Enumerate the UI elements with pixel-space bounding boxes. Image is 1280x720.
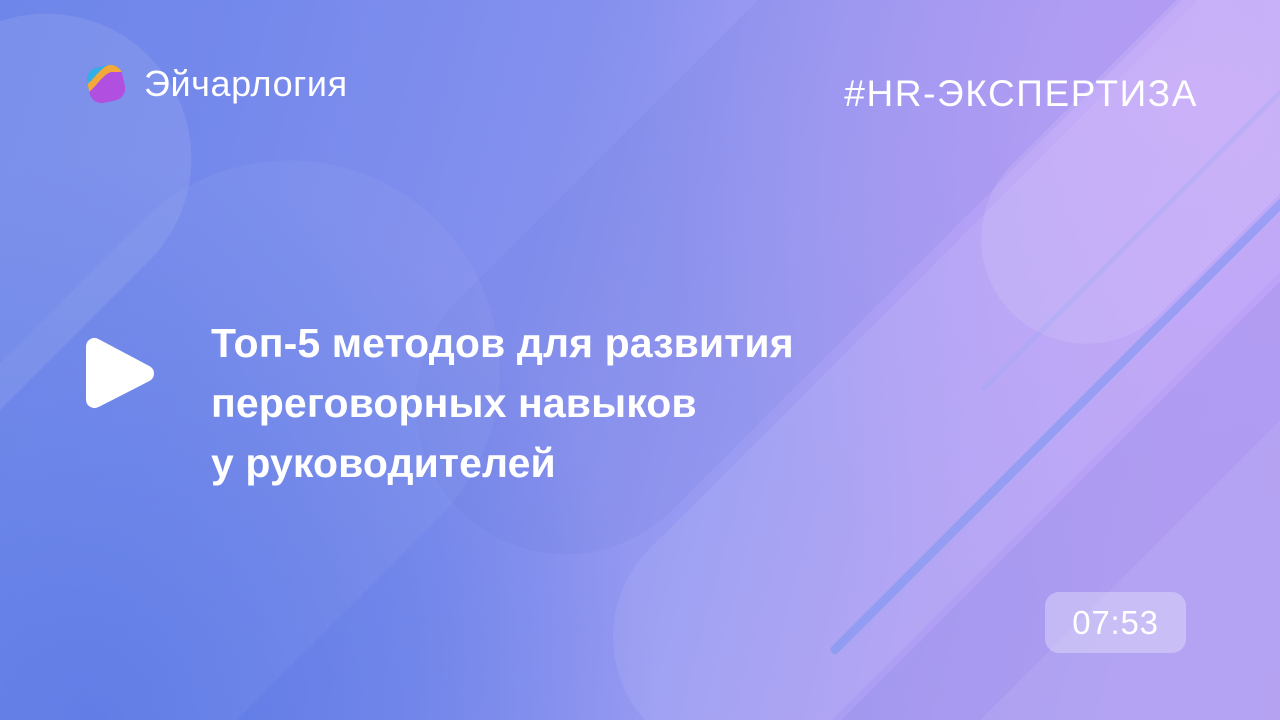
squircle-gradient-logo-icon (84, 62, 128, 106)
title-line-1: Топ-5 методов для развития (211, 313, 971, 373)
title-line-2: переговорных навыков (211, 373, 971, 433)
play-icon[interactable] (80, 336, 156, 410)
video-cover-slide: Эйчарлогия #HR-ЭКСПЕРТИЗА Топ-5 методов … (0, 0, 1280, 720)
hashtag-label: #HR-ЭКСПЕРТИЗА (844, 72, 1198, 116)
duration-badge: 07:53 (1045, 592, 1186, 653)
brand-logo[interactable]: Эйчарлогия (84, 62, 348, 106)
title-line-3: у руководителей (211, 433, 971, 493)
page-title: Топ-5 методов для развития переговорных … (211, 313, 971, 493)
brand-name: Эйчарлогия (144, 66, 348, 102)
